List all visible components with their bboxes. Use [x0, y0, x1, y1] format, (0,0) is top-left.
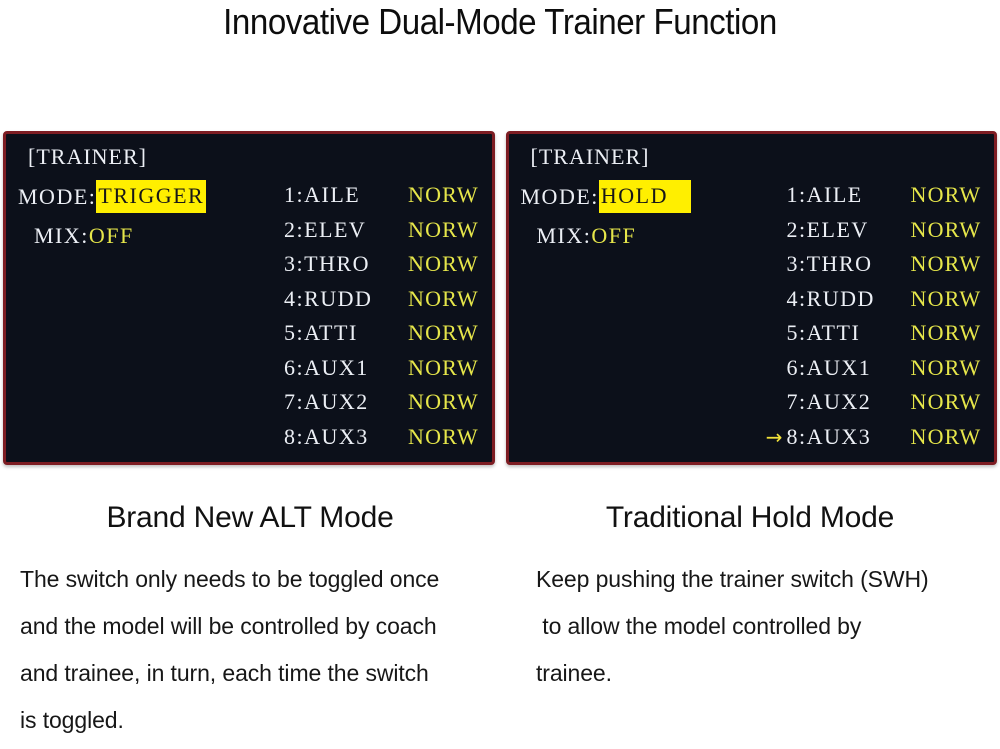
field-mode-value[interactable]: TRIGGER [96, 180, 206, 213]
lcd-panel-row: [TRAINER] MODE: TRIGGER MIX: OFF 1:AILE … [3, 131, 997, 465]
channel-row[interactable]: 1:AILE NORW [757, 178, 987, 213]
lcd-panel-left: [TRAINER] MODE: TRIGGER MIX: OFF 1:AILE … [3, 131, 495, 465]
caption-line: Keep pushing the trainer switch (SWH) [536, 556, 986, 603]
channel-value[interactable]: NORW [911, 389, 982, 415]
caption-line: trainee. [536, 650, 986, 697]
channel-row[interactable]: 2:ELEV NORW [254, 213, 484, 248]
channel-name: 4:RUDD [787, 286, 911, 312]
channel-row[interactable]: 2:ELEV NORW [757, 213, 987, 248]
channel-row[interactable]: 7:AUX2 NORW [757, 385, 987, 420]
caption-heading: Brand New ALT Mode [14, 498, 486, 538]
field-mix[interactable]: MIX: OFF [18, 221, 268, 251]
caption-line: to allow the model controlled by [536, 603, 986, 650]
caption-line: and the model will be controlled by coac… [20, 603, 486, 650]
channel-row[interactable]: 4:RUDD NORW [254, 282, 484, 317]
channel-row[interactable]: 3:THRO NORW [757, 247, 987, 282]
channel-row[interactable]: 6:AUX1 NORW [757, 351, 987, 386]
channel-name: 6:AUX1 [284, 355, 408, 381]
lcd-screen-left: [TRAINER] MODE: TRIGGER MIX: OFF 1:AILE … [6, 134, 492, 462]
channel-row[interactable]: 3:THRO NORW [254, 247, 484, 282]
channel-row[interactable]: 8:AUX3 NORW [254, 420, 484, 455]
field-mode-label: MODE: [18, 182, 96, 212]
channel-value[interactable]: NORW [408, 424, 479, 450]
channel-value[interactable]: NORW [408, 251, 479, 277]
channel-value[interactable]: NORW [911, 286, 982, 312]
channel-list: 1:AILE NORW 2:ELEV NORW 3:THRO NORW 4:RU… [757, 178, 987, 454]
caption-row: Brand New ALT Mode The switch only needs… [0, 498, 1000, 744]
channel-name: 6:AUX1 [787, 355, 911, 381]
channel-value[interactable]: NORW [911, 251, 982, 277]
screen-title: [TRAINER] [28, 142, 268, 172]
channel-list: 1:AILE NORW 2:ELEV NORW 3:THRO NORW 4:RU… [254, 178, 484, 454]
caption-line: The switch only needs to be toggled once [20, 556, 486, 603]
cursor-arrow-icon: → [757, 427, 787, 447]
channel-value[interactable]: NORW [408, 182, 479, 208]
caption-line: is toggled. [20, 697, 486, 744]
field-mode-label: MODE: [521, 182, 599, 212]
field-mode-value[interactable]: HOLD [599, 180, 691, 213]
channel-name: 7:AUX2 [284, 389, 408, 415]
caption-left: Brand New ALT Mode The switch only needs… [0, 498, 500, 744]
channel-value[interactable]: NORW [911, 424, 982, 450]
channel-value[interactable]: NORW [911, 355, 982, 381]
channel-row[interactable]: 5:ATTI NORW [757, 316, 987, 351]
channel-name: 2:ELEV [787, 217, 911, 243]
field-mix-label: MIX: [34, 221, 89, 251]
channel-name: 1:AILE [787, 182, 911, 208]
channel-row[interactable]: 5:ATTI NORW [254, 316, 484, 351]
channel-name: 7:AUX2 [787, 389, 911, 415]
channel-name: 8:AUX3 [284, 424, 408, 450]
channel-value[interactable]: NORW [408, 320, 479, 346]
caption-body: The switch only needs to be toggled once… [14, 556, 486, 744]
channel-name: 3:THRO [284, 251, 408, 277]
field-mix-label: MIX: [537, 221, 592, 251]
caption-right: Traditional Hold Mode Keep pushing the t… [500, 498, 1000, 744]
field-mix[interactable]: MIX: OFF [521, 221, 771, 251]
channel-name: 2:ELEV [284, 217, 408, 243]
lcd-left-column-right-panel: [TRAINER] MODE: HOLD MIX: OFF [521, 142, 771, 251]
channel-name: 5:ATTI [284, 320, 408, 346]
lcd-left-column-left-panel: [TRAINER] MODE: TRIGGER MIX: OFF [18, 142, 268, 251]
channel-row-selected[interactable]: → 8:AUX3 NORW [757, 420, 987, 455]
field-mix-value[interactable]: OFF [89, 221, 134, 251]
channel-row[interactable]: 4:RUDD NORW [757, 282, 987, 317]
field-mix-value[interactable]: OFF [591, 221, 636, 251]
field-mode[interactable]: MODE: TRIGGER [18, 180, 268, 213]
channel-row[interactable]: 1:AILE NORW [254, 178, 484, 213]
channel-value[interactable]: NORW [911, 182, 982, 208]
channel-value[interactable]: NORW [408, 389, 479, 415]
channel-value[interactable]: NORW [408, 355, 479, 381]
channel-name: 1:AILE [284, 182, 408, 208]
caption-line: and trainee, in turn, each time the swit… [20, 650, 486, 697]
channel-name: 5:ATTI [787, 320, 911, 346]
lcd-panel-right: [TRAINER] MODE: HOLD MIX: OFF 1:AILE NOR… [506, 131, 998, 465]
channel-name: 4:RUDD [284, 286, 408, 312]
caption-heading: Traditional Hold Mode [514, 498, 986, 538]
channel-value[interactable]: NORW [911, 320, 982, 346]
channel-value[interactable]: NORW [911, 217, 982, 243]
lcd-screen-right: [TRAINER] MODE: HOLD MIX: OFF 1:AILE NOR… [509, 134, 995, 462]
caption-body: Keep pushing the trainer switch (SWH) to… [514, 556, 986, 697]
channel-value[interactable]: NORW [408, 286, 479, 312]
channel-name: 3:THRO [787, 251, 911, 277]
field-mode[interactable]: MODE: HOLD [521, 180, 771, 213]
page-title: Innovative Dual-Mode Trainer Function [40, 0, 960, 44]
channel-row[interactable]: 6:AUX1 NORW [254, 351, 484, 386]
channel-value[interactable]: NORW [408, 217, 479, 243]
channel-name: 8:AUX3 [787, 424, 911, 450]
screen-title: [TRAINER] [531, 142, 771, 172]
channel-row[interactable]: 7:AUX2 NORW [254, 385, 484, 420]
